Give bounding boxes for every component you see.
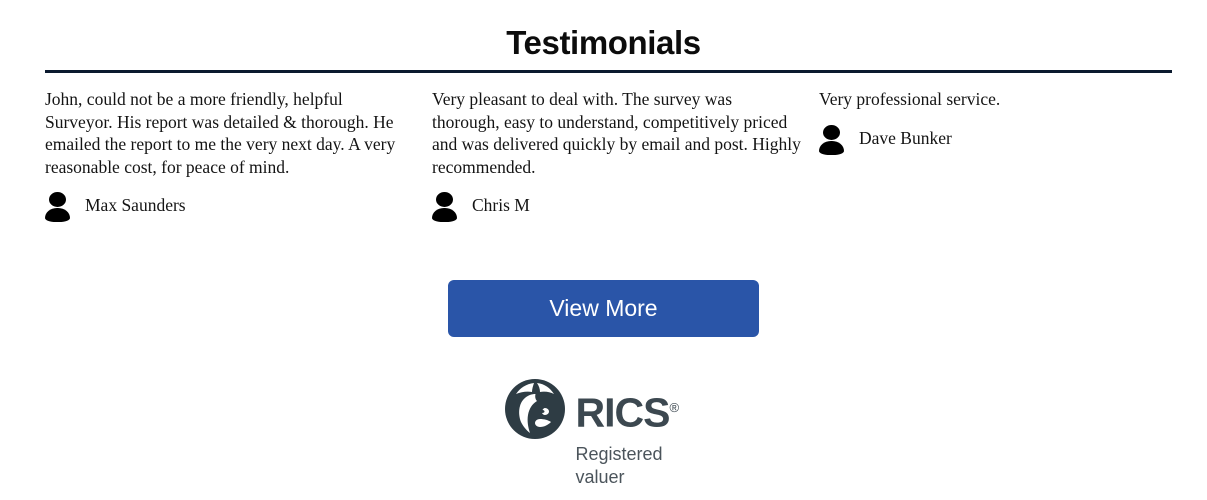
testimonial-card: John, could not be a more friendly, help… [45, 88, 432, 222]
page-title: Testimonials [0, 22, 1207, 64]
rics-logo: RICS® [504, 378, 704, 440]
testimonial-card: Very professional service. Dave Bunker [819, 88, 1206, 155]
caption-line-2: valuer [576, 466, 686, 489]
testimonial-author: Max Saunders [45, 188, 414, 222]
caption-line-1: Registered [576, 443, 686, 466]
view-more-button[interactable]: View More [448, 280, 759, 337]
testimonial-author: Dave Bunker [819, 121, 1188, 155]
testimonial-quote: Very professional service. [819, 88, 1188, 111]
testimonial-quote: Very pleasant to deal with. The survey w… [432, 88, 801, 178]
accreditation-caption: Registered valuer [576, 443, 686, 489]
user-avatar-icon [45, 190, 71, 220]
author-name: Dave Bunker [859, 128, 952, 148]
rics-wordmark: RICS® [576, 386, 680, 435]
author-name: Max Saunders [85, 195, 186, 215]
rics-wordmark-text: RICS [576, 389, 670, 435]
testimonial-card: Very pleasant to deal with. The survey w… [432, 88, 819, 222]
rics-lion-emblem-icon [504, 378, 566, 440]
user-avatar-icon [432, 190, 458, 220]
user-avatar-icon [819, 123, 845, 153]
accreditation-block: RICS® Registered valuer [0, 378, 1207, 489]
testimonial-quote: John, could not be a more friendly, help… [45, 88, 414, 178]
title-divider [45, 70, 1172, 73]
registered-trademark-icon: ® [669, 400, 679, 415]
testimonials-list: John, could not be a more friendly, help… [45, 88, 1172, 222]
view-more-container: View More [0, 280, 1207, 337]
testimonial-author: Chris M [432, 188, 801, 222]
author-name: Chris M [472, 195, 530, 215]
